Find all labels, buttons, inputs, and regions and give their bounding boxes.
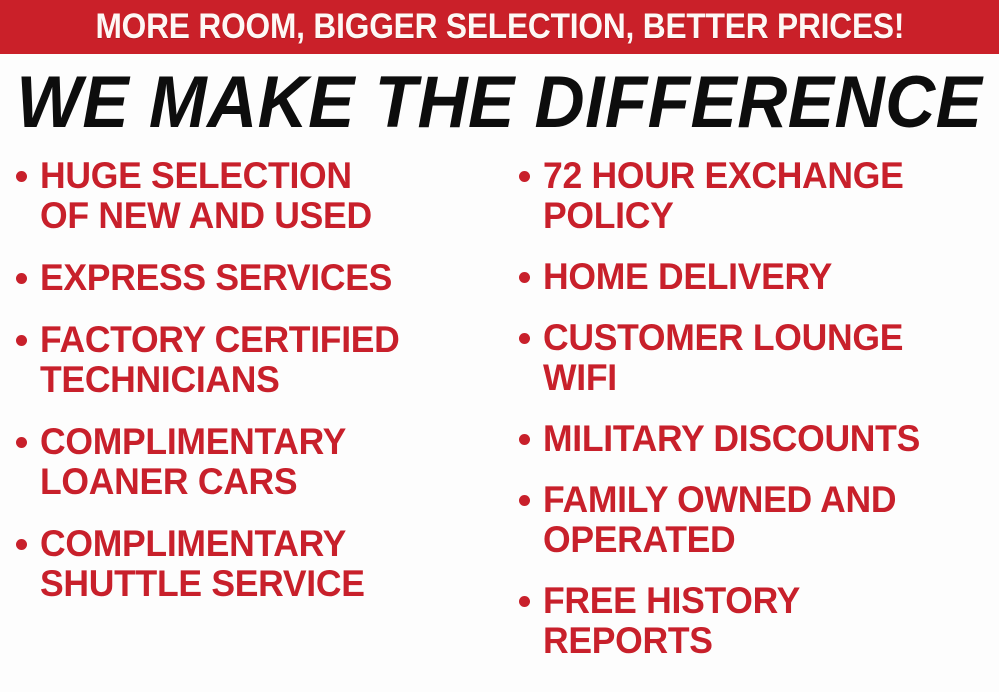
promo-poster: MORE ROOM, BIGGER SELECTION, BETTER PRIC… (0, 0, 999, 692)
bullet-dot-icon (16, 273, 27, 284)
top-banner: MORE ROOM, BIGGER SELECTION, BETTER PRIC… (0, 0, 999, 54)
list-item-label: COMPLIMENTARY SHUTTLE SERVICE (40, 524, 365, 604)
list-item-label: EXPRESS SERVICES (40, 258, 392, 298)
list-item-label: HUGE SELECTION OF NEW AND USED (40, 156, 372, 236)
list-item-label: FREE HISTORY REPORTS (543, 581, 800, 661)
bullet-dot-icon (16, 539, 27, 550)
list-item-label: 72 HOUR EXCHANGE POLICY (543, 156, 904, 236)
list-item-label: CUSTOMER LOUNGE WIFI (543, 318, 903, 398)
list-item: FREE HISTORY REPORTS (519, 581, 998, 661)
list-item: FAMILY OWNED AND OPERATED (519, 480, 998, 560)
bullet-dot-icon (519, 495, 530, 506)
headline-area: WE MAKE THE DIFFERENCE (0, 58, 999, 148)
list-item-label: FACTORY CERTIFIED TECHNICIANS (40, 320, 400, 400)
bullet-dot-icon (16, 171, 27, 182)
features-column-left: HUGE SELECTION OF NEW AND USED EXPRESS S… (0, 156, 499, 626)
page-title: WE MAKE THE DIFFERENCE (17, 65, 983, 141)
list-item: HUGE SELECTION OF NEW AND USED (16, 156, 499, 236)
bullet-dot-icon (519, 434, 530, 445)
features-column-right: 72 HOUR EXCHANGE POLICY HOME DELIVERY CU… (499, 156, 998, 682)
list-item: COMPLIMENTARY SHUTTLE SERVICE (16, 524, 499, 604)
list-item-label: COMPLIMENTARY LOANER CARS (40, 422, 346, 502)
list-item: COMPLIMENTARY LOANER CARS (16, 422, 499, 502)
list-item: FACTORY CERTIFIED TECHNICIANS (16, 320, 499, 400)
list-item: HOME DELIVERY (519, 257, 998, 297)
list-item-label: FAMILY OWNED AND OPERATED (543, 480, 896, 560)
bullet-dot-icon (519, 596, 530, 607)
list-item: CUSTOMER LOUNGE WIFI (519, 318, 998, 398)
bullet-dot-icon (519, 272, 530, 283)
bullet-dot-icon (16, 335, 27, 346)
top-banner-text: MORE ROOM, BIGGER SELECTION, BETTER PRIC… (95, 9, 904, 45)
list-item: MILITARY DISCOUNTS (519, 419, 998, 459)
list-item: EXPRESS SERVICES (16, 258, 499, 298)
list-item-label: HOME DELIVERY (543, 257, 832, 297)
bullet-dot-icon (519, 333, 530, 344)
features-columns: HUGE SELECTION OF NEW AND USED EXPRESS S… (0, 156, 999, 692)
list-item: 72 HOUR EXCHANGE POLICY (519, 156, 998, 236)
list-item-label: MILITARY DISCOUNTS (543, 419, 920, 459)
bullet-dot-icon (16, 437, 27, 448)
bullet-dot-icon (519, 171, 530, 182)
